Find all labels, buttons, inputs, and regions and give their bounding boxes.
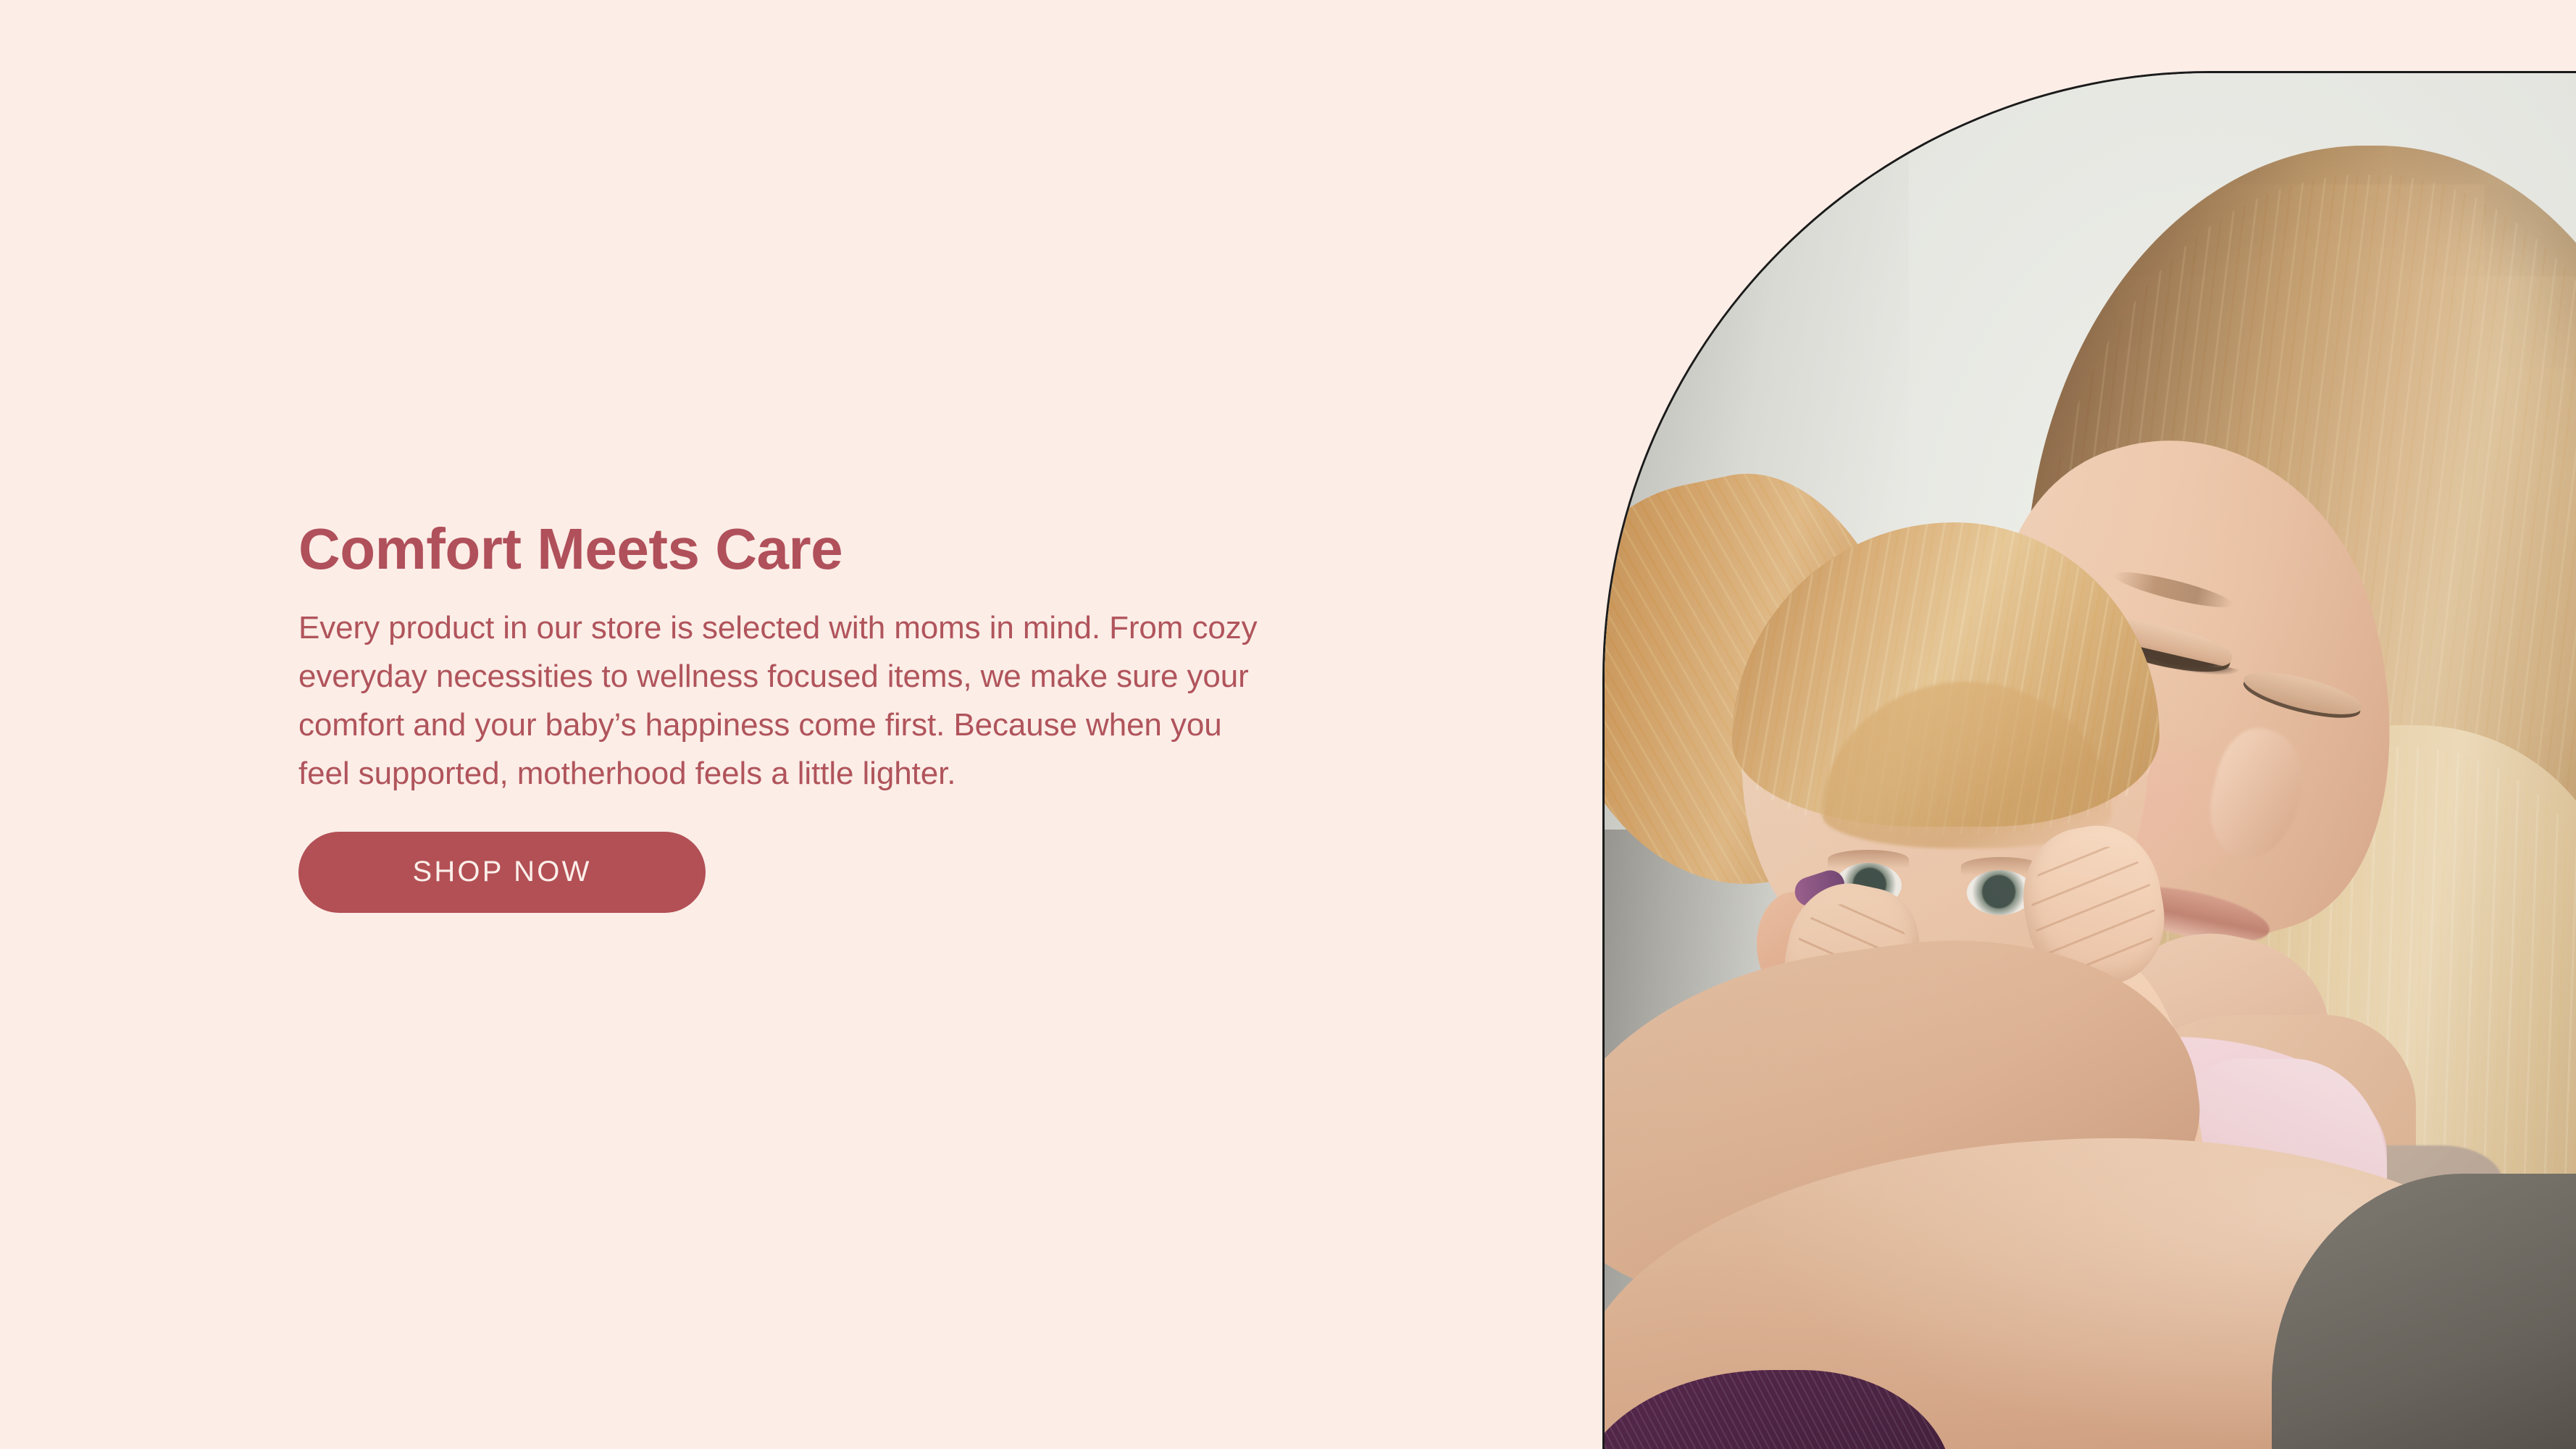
mother-and-child-photo (1605, 73, 2576, 1449)
hero-description: Every product in our store is selected w… (298, 578, 1262, 798)
hero-section: Comfort Meets Care Every product in our … (0, 0, 2576, 1449)
page-title: Comfort Meets Care (298, 520, 1269, 578)
shop-now-button[interactable]: SHOP NOW (298, 832, 706, 913)
hero-image-panel (1602, 71, 2576, 1449)
hero-copy-block: Comfort Meets Care Every product in our … (298, 520, 1269, 913)
cta-container: SHOP NOW (298, 798, 1269, 913)
